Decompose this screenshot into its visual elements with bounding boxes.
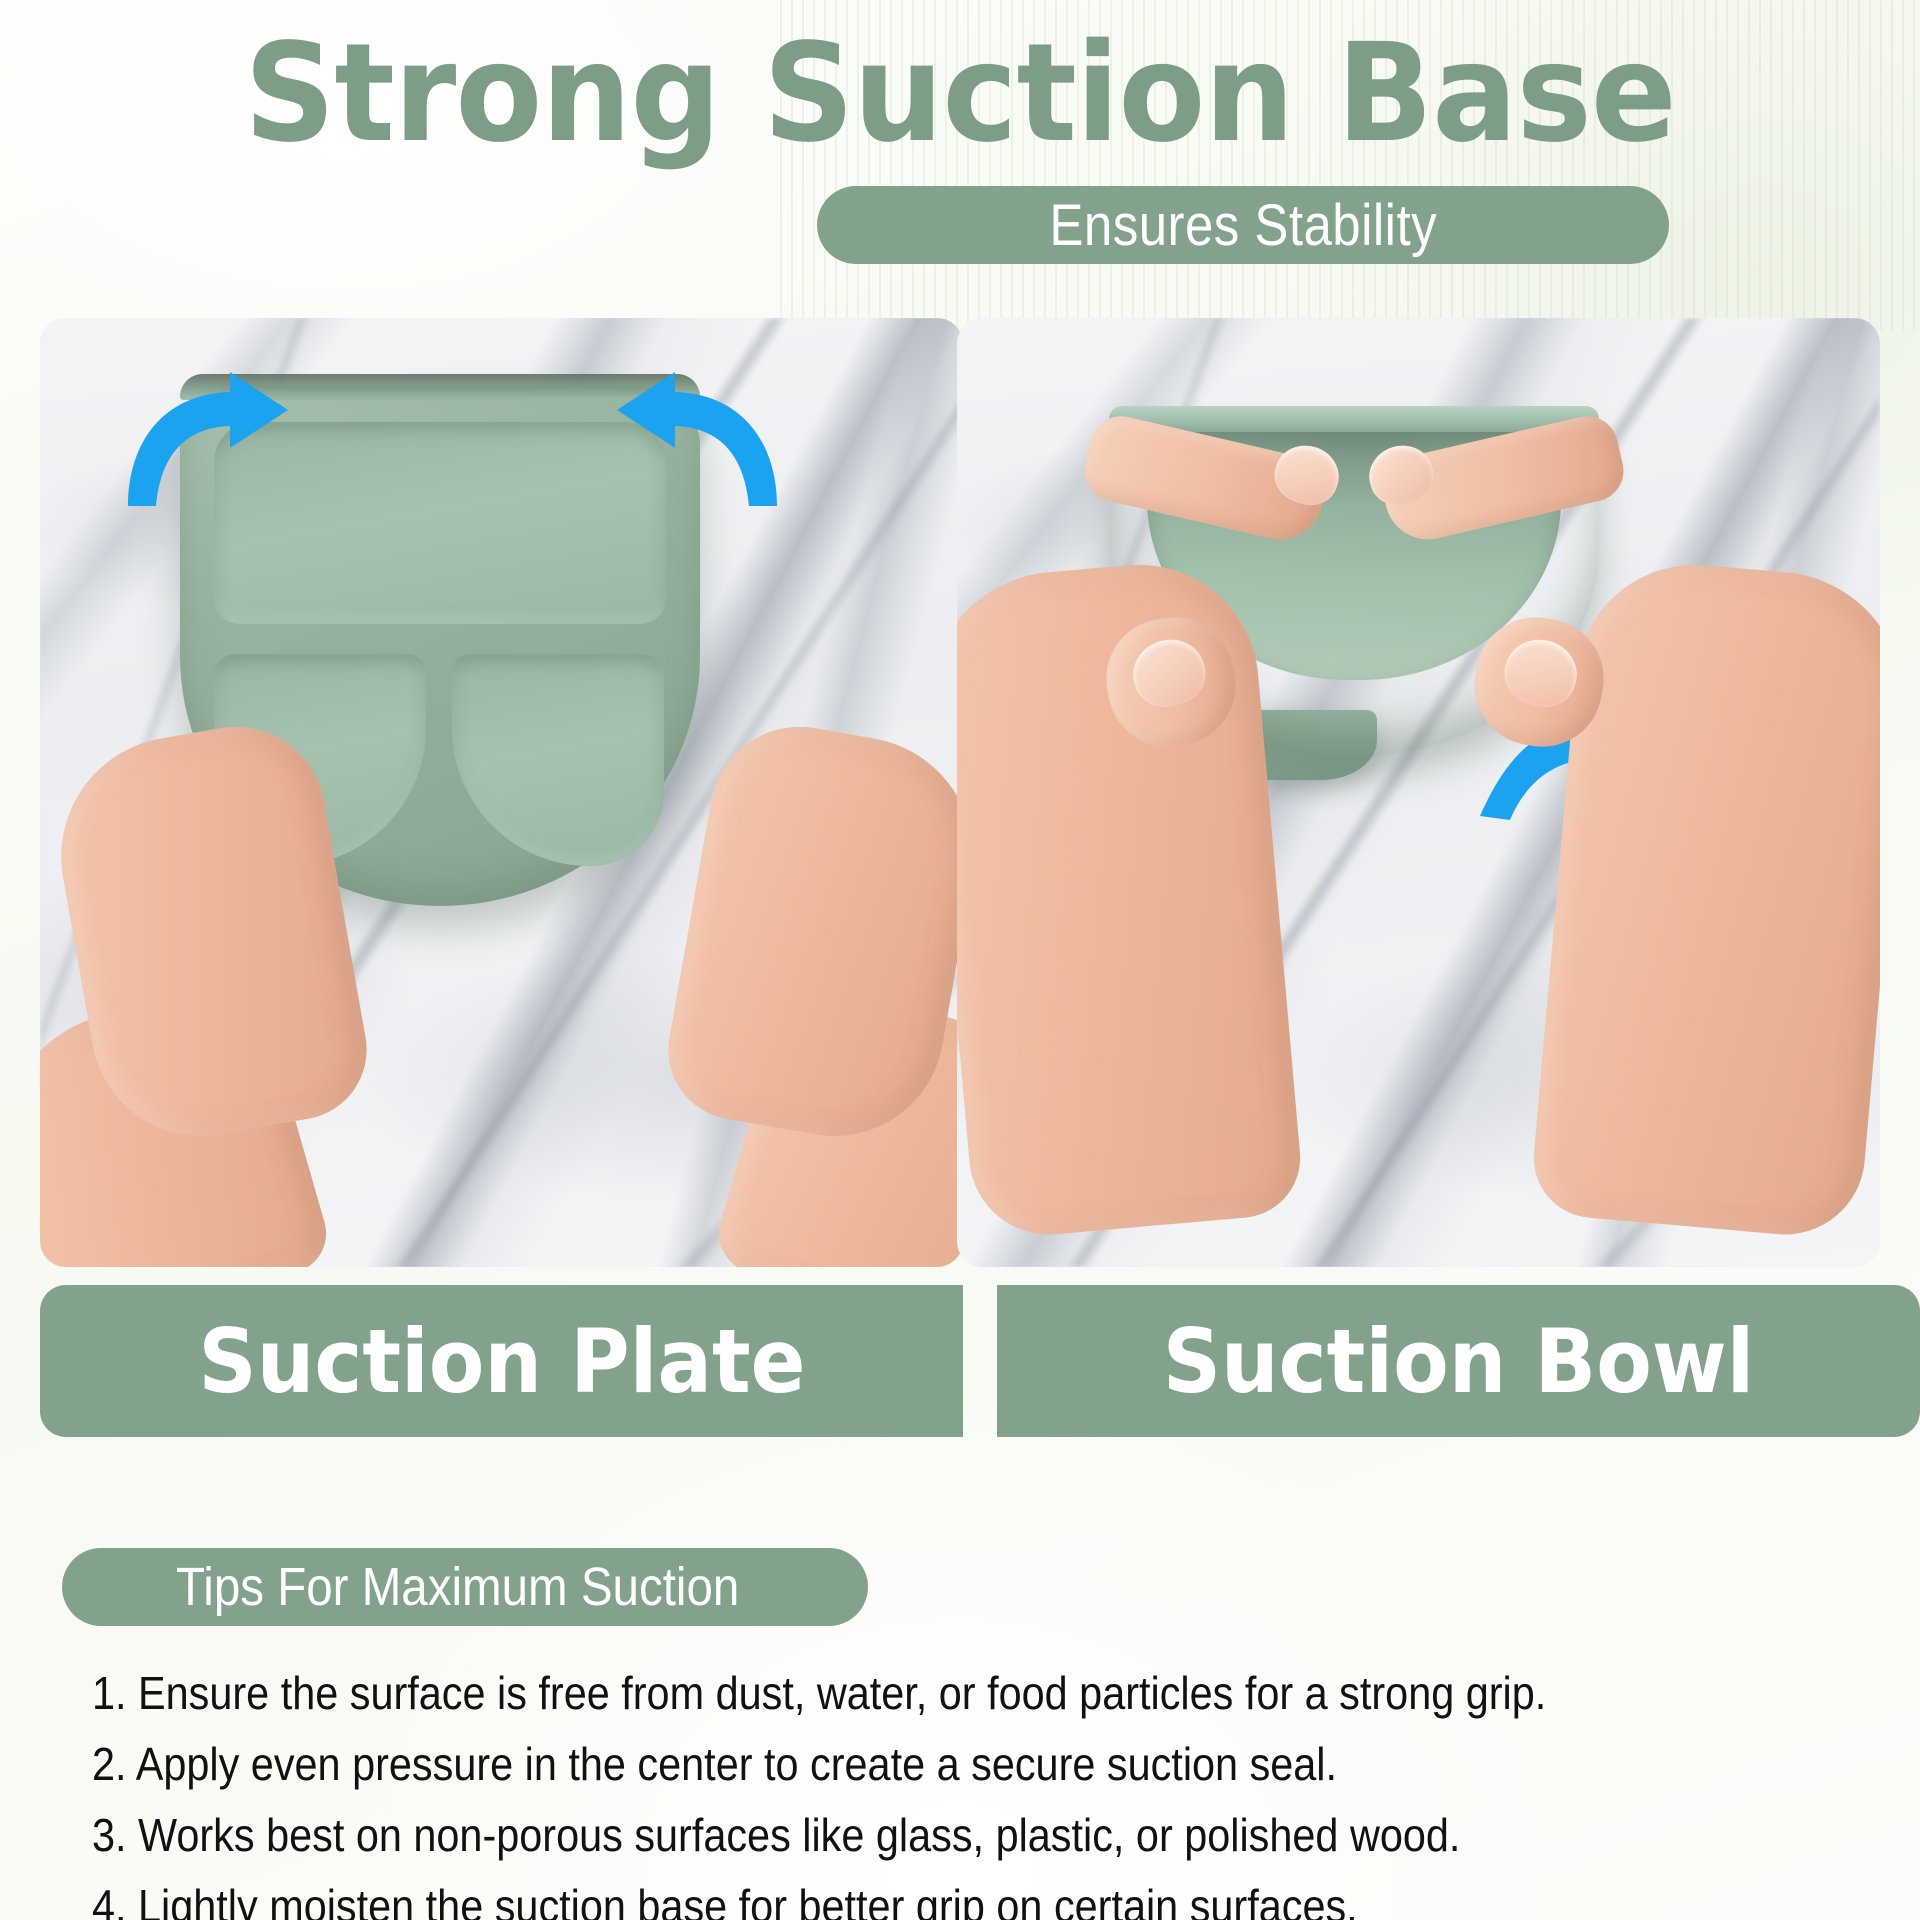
label-suction-plate: Suction Plate	[198, 1310, 805, 1413]
curved-arrow-up-right-icon	[595, 366, 795, 516]
tip-item: 1. Ensure the surface is free from dust,…	[92, 1658, 1676, 1729]
tips-heading-pill: Tips For Maximum Suction	[62, 1548, 868, 1626]
tips-list: 1. Ensure the surface is free from dust,…	[92, 1658, 1852, 1920]
tip-item: 2. Apply even pressure in the center to …	[92, 1729, 1676, 1800]
page-title: Strong Suction Base	[67, 26, 1853, 162]
bowl-rim	[1109, 406, 1599, 432]
infographic-page: Strong Suction Base Ensures Stability	[0, 0, 1920, 1920]
photo-suction-bowl	[957, 318, 1880, 1267]
subtitle-text: Ensures Stability	[1049, 192, 1437, 259]
header: Strong Suction Base Ensures Stability	[0, 0, 1920, 300]
panel-suction-plate	[40, 318, 963, 1267]
tip-item: 4. Lightly moisten the suction base for …	[92, 1871, 1676, 1920]
tip-item: 3. Works best on non-porous surfaces lik…	[92, 1800, 1676, 1871]
subtitle-pill: Ensures Stability	[817, 186, 1669, 264]
tips-heading-text: Tips For Maximum Suction	[176, 1556, 739, 1618]
label-suction-bowl: Suction Bowl	[1163, 1310, 1755, 1413]
photo-suction-plate	[40, 318, 963, 1267]
panel-suction-bowl	[957, 318, 1880, 1267]
plate-compartment-bottom-right	[452, 654, 664, 866]
label-bar-suction-plate: Suction Plate	[40, 1285, 963, 1437]
label-bar-suction-bowl: Suction Bowl	[997, 1285, 1920, 1437]
curved-arrow-up-left-icon	[110, 366, 310, 516]
